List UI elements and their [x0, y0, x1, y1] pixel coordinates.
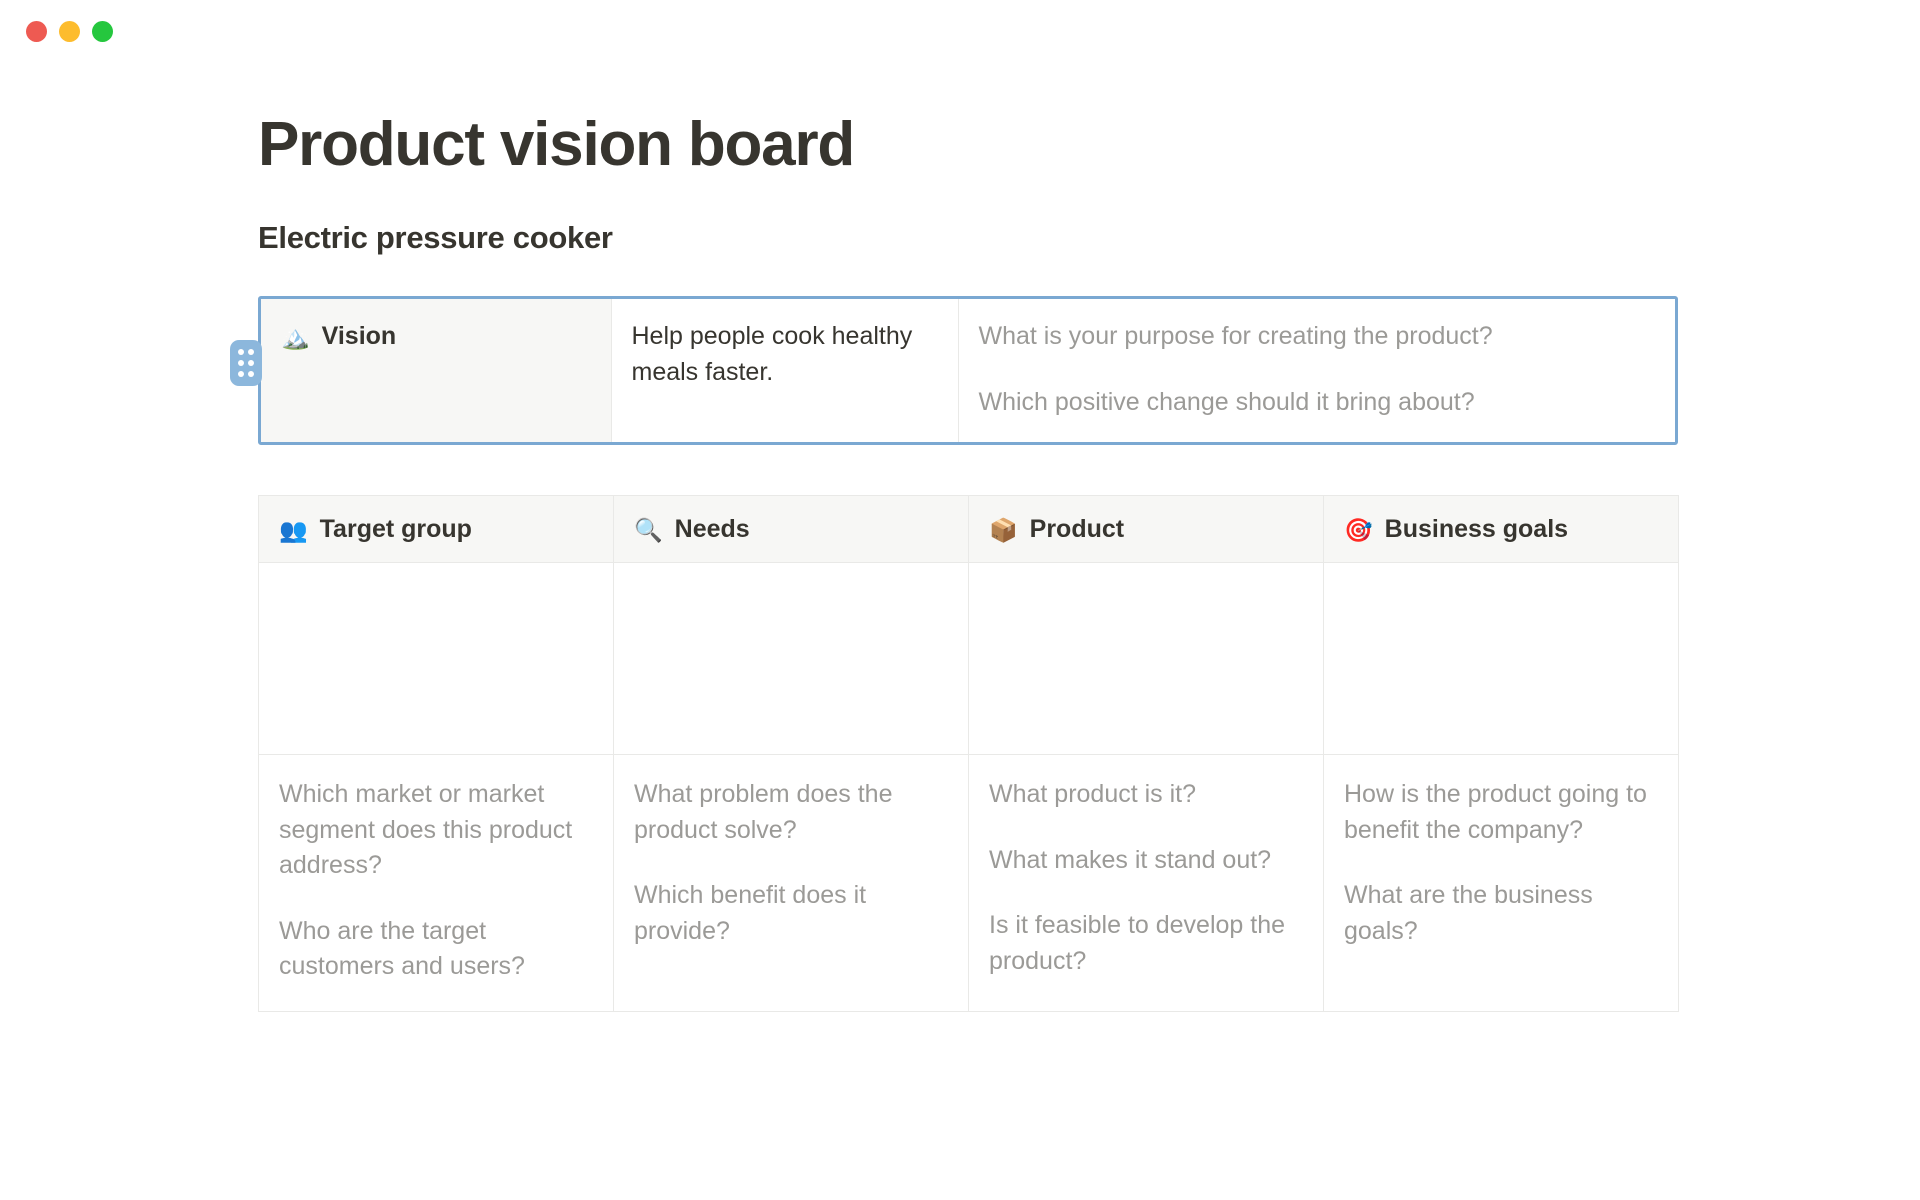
- board-prompt-list: Which market or market segment does this…: [279, 777, 593, 985]
- minimize-window-button[interactable]: [59, 21, 80, 42]
- busts-in-silhouette-icon: 👥: [279, 520, 308, 543]
- vision-prompt-list: What is your purpose for creating the pr…: [979, 319, 1656, 420]
- window-titlebar: [0, 0, 1920, 62]
- board-prompt-cell-target-group[interactable]: Which market or market segment does this…: [259, 755, 614, 1012]
- board-header-needs[interactable]: 🔍 Needs: [614, 496, 969, 563]
- board-value-cell-needs[interactable]: [614, 563, 969, 755]
- board-value-row[interactable]: [259, 563, 1679, 755]
- vision-value: Help people cook healthy meals faster.: [632, 319, 938, 390]
- vision-table-wrapper: 🏔️ Vision Help people cook healthy meals…: [258, 296, 1678, 445]
- board-prompt-cell-needs[interactable]: What problem does the product solve? Whi…: [614, 755, 969, 1012]
- board-prompt: Is it feasible to develop the product?: [989, 908, 1303, 979]
- board-prompt: What problem does the product solve?: [634, 777, 948, 848]
- board-value-cell-product[interactable]: [969, 563, 1324, 755]
- page-title: Product vision board: [0, 62, 1920, 179]
- document-content: Product vision board Electric pressure c…: [0, 62, 1920, 1012]
- vision-table[interactable]: 🏔️ Vision Help people cook healthy meals…: [258, 296, 1678, 445]
- board-prompt: Who are the target customers and users?: [279, 914, 593, 985]
- board-prompt: What makes it stand out?: [989, 843, 1303, 879]
- vision-value-cell[interactable]: Help people cook healthy meals faster.: [611, 299, 958, 442]
- board-header-target-group[interactable]: 👥 Target group: [259, 496, 614, 563]
- close-window-button[interactable]: [26, 21, 47, 42]
- board-header-label: Needs: [675, 512, 750, 547]
- board-prompt-list: What product is it? What makes it stand …: [989, 777, 1303, 979]
- drag-dot: [238, 360, 244, 366]
- board-header-label: Product: [1030, 512, 1124, 547]
- board-header-row: 👥 Target group 🔍 Needs: [259, 496, 1679, 563]
- drag-dot: [238, 349, 244, 355]
- app-window: Product vision board Electric pressure c…: [0, 0, 1920, 1200]
- board-prompt-list: What problem does the product solve? Whi…: [634, 777, 948, 949]
- board-prompt-cell-product[interactable]: What product is it? What makes it stand …: [969, 755, 1324, 1012]
- board-prompt-list: How is the product going to benefit the …: [1344, 777, 1658, 949]
- product-vision-board-table[interactable]: 👥 Target group 🔍 Needs: [258, 495, 1679, 1012]
- drag-dot: [248, 349, 254, 355]
- drag-dot: [248, 371, 254, 377]
- maximize-window-button[interactable]: [92, 21, 113, 42]
- board-header-business-goals[interactable]: 🎯 Business goals: [1324, 496, 1679, 563]
- snow-capped-mountain-icon: 🏔️: [281, 327, 310, 350]
- board-prompt-cell-business-goals[interactable]: How is the product going to benefit the …: [1324, 755, 1679, 1012]
- board-prompt-row[interactable]: Which market or market segment does this…: [259, 755, 1679, 1012]
- vision-prompt: What is your purpose for creating the pr…: [979, 319, 1656, 355]
- vision-label-cell[interactable]: 🏔️ Vision: [261, 299, 611, 442]
- drag-dot: [238, 371, 244, 377]
- board-prompt: What are the business goals?: [1344, 878, 1658, 949]
- magnifying-glass-icon: 🔍: [634, 520, 663, 543]
- board-prompt: What product is it?: [989, 777, 1303, 813]
- board-prompt: Which market or market segment does this…: [279, 777, 593, 884]
- board-prompt: Which benefit does it provide?: [634, 878, 948, 949]
- vision-row[interactable]: 🏔️ Vision Help people cook healthy meals…: [261, 299, 1675, 442]
- vision-label: Vision: [322, 319, 397, 354]
- board-prompt: How is the product going to benefit the …: [1344, 777, 1658, 848]
- vision-prompt: Which positive change should it bring ab…: [979, 385, 1656, 421]
- vision-prompt-cell[interactable]: What is your purpose for creating the pr…: [958, 299, 1675, 442]
- package-icon: 📦: [989, 520, 1018, 543]
- board-value-cell-business-goals[interactable]: [1324, 563, 1679, 755]
- board-value-cell-target-group[interactable]: [259, 563, 614, 755]
- board-header-label: Business goals: [1385, 512, 1568, 547]
- board-header-product[interactable]: 📦 Product: [969, 496, 1324, 563]
- page-subtitle: Electric pressure cooker: [0, 179, 1920, 258]
- board-table-wrapper: 👥 Target group 🔍 Needs: [258, 495, 1678, 1012]
- direct-hit-target-icon: 🎯: [1344, 520, 1373, 543]
- board-header-label: Target group: [320, 512, 472, 547]
- drag-dot: [248, 360, 254, 366]
- row-drag-handle[interactable]: [230, 340, 262, 386]
